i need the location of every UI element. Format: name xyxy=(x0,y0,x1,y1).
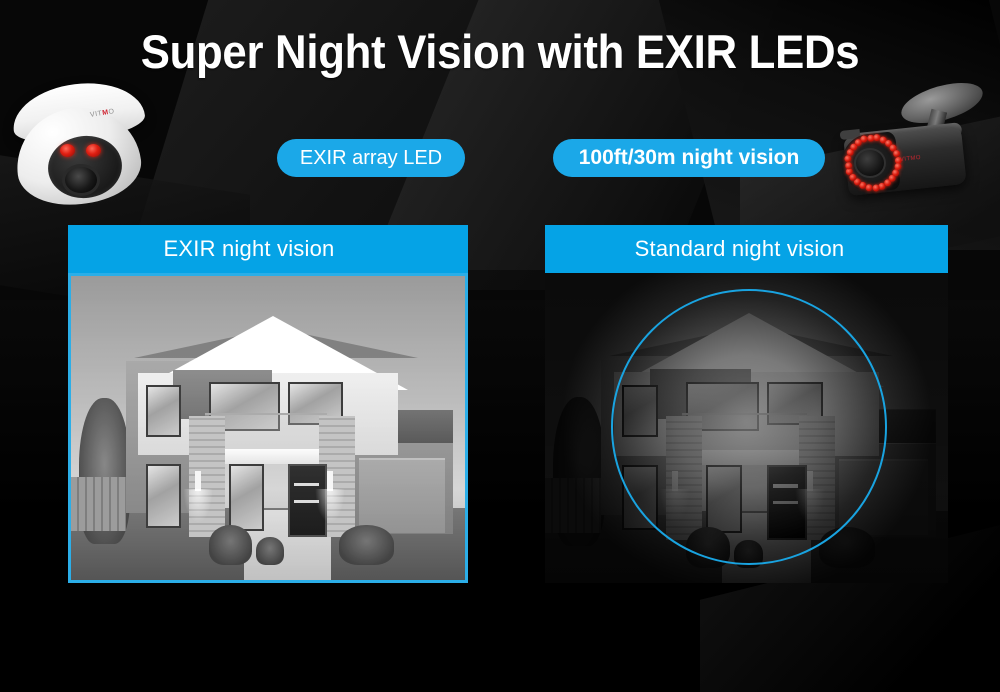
badge-night-vision-range-label: 100ft/30m night vision xyxy=(579,146,800,170)
badge-exir-array-led: EXIR array LED xyxy=(277,139,465,177)
fence xyxy=(71,477,126,532)
house-scene-exir xyxy=(71,276,465,580)
panel-standard-header: Standard night vision xyxy=(545,225,948,273)
window-upper-left xyxy=(622,385,658,438)
panel-standard-header-label: Standard night vision xyxy=(635,236,845,262)
shrub-left xyxy=(686,527,730,567)
ir-led-icon xyxy=(86,144,101,157)
badge-night-vision-range: 100ft/30m night vision xyxy=(553,139,825,177)
ir-led-icon xyxy=(844,155,852,163)
house-scene-standard xyxy=(545,273,948,583)
fence xyxy=(545,478,601,534)
bullet-camera: VITMO xyxy=(838,84,998,214)
shrub-center xyxy=(256,537,284,564)
wall-light-right xyxy=(807,471,813,491)
panel-exir-night-vision: EXIR night vision xyxy=(68,225,468,583)
wall-light-left xyxy=(672,471,678,491)
panel-exir-header: EXIR night vision xyxy=(68,225,468,273)
wall-light-right xyxy=(327,471,333,491)
ir-led-icon xyxy=(865,184,873,192)
page-title: Super Night Vision with EXIR LEDs xyxy=(35,24,965,79)
panel-standard-image xyxy=(545,273,948,583)
window-lower-center xyxy=(229,464,264,531)
badge-exir-array-led-label: EXIR array LED xyxy=(300,147,442,170)
ir-led-icon xyxy=(844,161,852,169)
dome-camera: VITMO xyxy=(4,80,156,212)
wall-light-left xyxy=(195,471,201,491)
ir-led-icon xyxy=(872,184,880,192)
shrub-center xyxy=(734,540,762,568)
panel-exir-header-label: EXIR night vision xyxy=(164,236,335,262)
bullet-camera-lens xyxy=(854,148,886,178)
panel-exir-image xyxy=(68,273,468,583)
garage-door xyxy=(839,459,928,535)
night-vision-banner: Super Night Vision with EXIR LEDs EXIR a… xyxy=(0,0,1000,692)
dome-camera-lens xyxy=(62,164,100,196)
shrub-right xyxy=(339,525,394,565)
window-lower-center xyxy=(706,465,742,533)
ir-led-icon xyxy=(60,144,75,157)
garage-door xyxy=(359,458,446,533)
shrub-left xyxy=(209,525,252,565)
window-lower-left xyxy=(146,464,181,528)
panel-standard-night-vision: Standard night vision xyxy=(545,225,948,583)
window-upper-left xyxy=(146,385,181,437)
shrub-right xyxy=(819,527,875,567)
window-lower-left xyxy=(622,465,658,530)
